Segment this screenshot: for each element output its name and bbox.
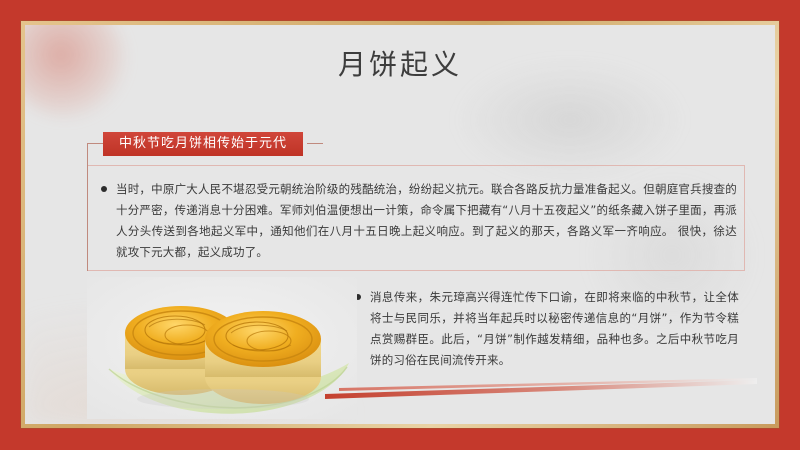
paragraph-1-text: 当时，中原广大人民不堪忍受元朝统治阶级的残酷统治，纷纷起义抗元。联合各路反抗力量…	[116, 179, 737, 263]
bullet-dot-icon	[101, 186, 107, 192]
content-card: 月饼起义 中秋节吃月饼相传始于元代 当时，中原广大人民不堪忍受元朝统治阶级的残酷…	[25, 25, 775, 424]
banner-connector-right	[307, 143, 323, 144]
banner-connector-left	[87, 143, 103, 144]
section-banner-label: 中秋节吃月饼相传始于元代	[103, 132, 303, 156]
banner-connector-stem	[87, 143, 88, 271]
paragraph-2-text: 消息传来，朱元璋高兴得连忙传下口谕，在即将来临的中秋节，让全体将士与民同乐，并将…	[370, 287, 739, 371]
mooncake-photo	[87, 277, 357, 419]
page-title: 月饼起义	[25, 43, 775, 83]
paragraph-item-2: 消息传来，朱元璋高兴得连忙传下口谕，在即将来临的中秋节，让全体将士与民同乐，并将…	[355, 287, 739, 371]
paragraph-item-1: 当时，中原广大人民不堪忍受元朝统治阶级的残酷统治，纷纷起义抗元。联合各路反抗力量…	[101, 179, 737, 263]
bottom-ribbon-decoration	[325, 378, 757, 400]
slide-canvas: 月饼起义 中秋节吃月饼相传始于元代 当时，中原广大人民不堪忍受元朝统治阶级的残酷…	[0, 0, 800, 450]
